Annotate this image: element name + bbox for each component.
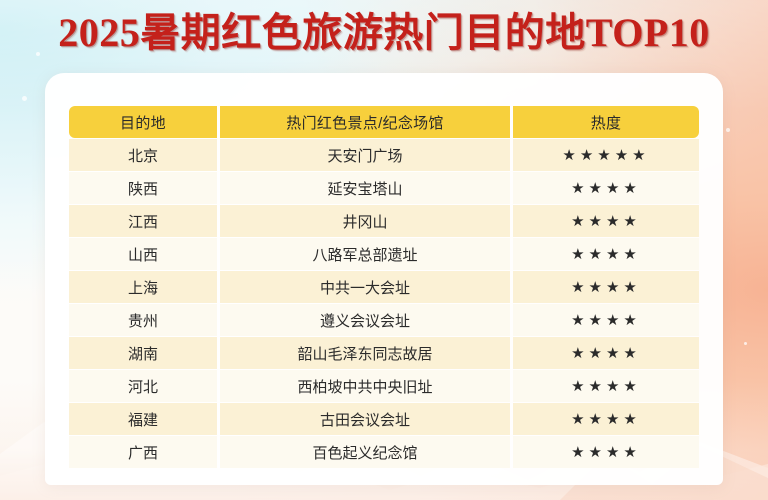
cell-site: 延安宝塔山 (220, 172, 510, 204)
table-row: 山西 八路军总部遗址 ★★★★ (69, 238, 699, 270)
cell-destination: 福建 (69, 403, 217, 435)
cell-site: 中共一大会址 (220, 271, 510, 303)
cell-heat-stars: ★★★★ (513, 436, 699, 468)
decor-speck (726, 128, 730, 132)
cell-heat-stars: ★★★★ (513, 403, 699, 435)
page-title: 2025暑期红色旅游热门目的地TOP10 (0, 6, 768, 60)
cell-site: 西柏坡中共中央旧址 (220, 370, 510, 402)
table-row: 上海 中共一大会址 ★★★★ (69, 271, 699, 303)
table-header-row: 目的地 热门红色景点/纪念场馆 热度 (69, 106, 699, 138)
cell-site: 八路军总部遗址 (220, 238, 510, 270)
cell-destination: 河北 (69, 370, 217, 402)
cell-site: 百色起义纪念馆 (220, 436, 510, 468)
column-header-destination: 目的地 (69, 106, 217, 138)
cell-heat-stars: ★★★★ (513, 304, 699, 336)
cell-heat-stars: ★★★★ (513, 370, 699, 402)
table-row: 江西 井冈山 ★★★★ (69, 205, 699, 237)
cell-destination: 陕西 (69, 172, 217, 204)
cell-destination: 北京 (69, 139, 217, 171)
table-row: 福建 古田会议会址 ★★★★ (69, 403, 699, 435)
cell-destination: 江西 (69, 205, 217, 237)
cell-site: 古田会议会址 (220, 403, 510, 435)
decor-speck (22, 96, 27, 101)
table-body: 北京 天安门广场 ★★★★★ 陕西 延安宝塔山 ★★★★ 江西 井冈山 ★★★★… (69, 139, 699, 468)
ranking-table: 目的地 热门红色景点/纪念场馆 热度 北京 天安门广场 ★★★★★ 陕西 延安宝… (66, 105, 702, 469)
column-header-site: 热门红色景点/纪念场馆 (220, 106, 510, 138)
table-row: 湖南 韶山毛泽东同志故居 ★★★★ (69, 337, 699, 369)
column-header-heat: 热度 (513, 106, 699, 138)
cell-heat-stars: ★★★★ (513, 205, 699, 237)
poster-root: 2025暑期红色旅游热门目的地TOP10 目的地 热门红色景点/纪念场馆 热度 … (0, 0, 768, 500)
table-row: 贵州 遵义会议会址 ★★★★ (69, 304, 699, 336)
cell-heat-stars: ★★★★★ (513, 139, 699, 171)
table-row: 广西 百色起义纪念馆 ★★★★ (69, 436, 699, 468)
cell-site: 韶山毛泽东同志故居 (220, 337, 510, 369)
table-row: 河北 西柏坡中共中央旧址 ★★★★ (69, 370, 699, 402)
table-row: 北京 天安门广场 ★★★★★ (69, 139, 699, 171)
table-row: 陕西 延安宝塔山 ★★★★ (69, 172, 699, 204)
cell-heat-stars: ★★★★ (513, 271, 699, 303)
cell-destination: 湖南 (69, 337, 217, 369)
cell-heat-stars: ★★★★ (513, 238, 699, 270)
cell-destination: 上海 (69, 271, 217, 303)
cell-heat-stars: ★★★★ (513, 337, 699, 369)
decor-speck (744, 342, 747, 345)
cell-destination: 山西 (69, 238, 217, 270)
cell-site: 天安门广场 (220, 139, 510, 171)
cell-destination: 贵州 (69, 304, 217, 336)
cell-site: 井冈山 (220, 205, 510, 237)
cell-destination: 广西 (69, 436, 217, 468)
table-header: 目的地 热门红色景点/纪念场馆 热度 (69, 106, 699, 138)
cell-heat-stars: ★★★★ (513, 172, 699, 204)
cell-site: 遵义会议会址 (220, 304, 510, 336)
